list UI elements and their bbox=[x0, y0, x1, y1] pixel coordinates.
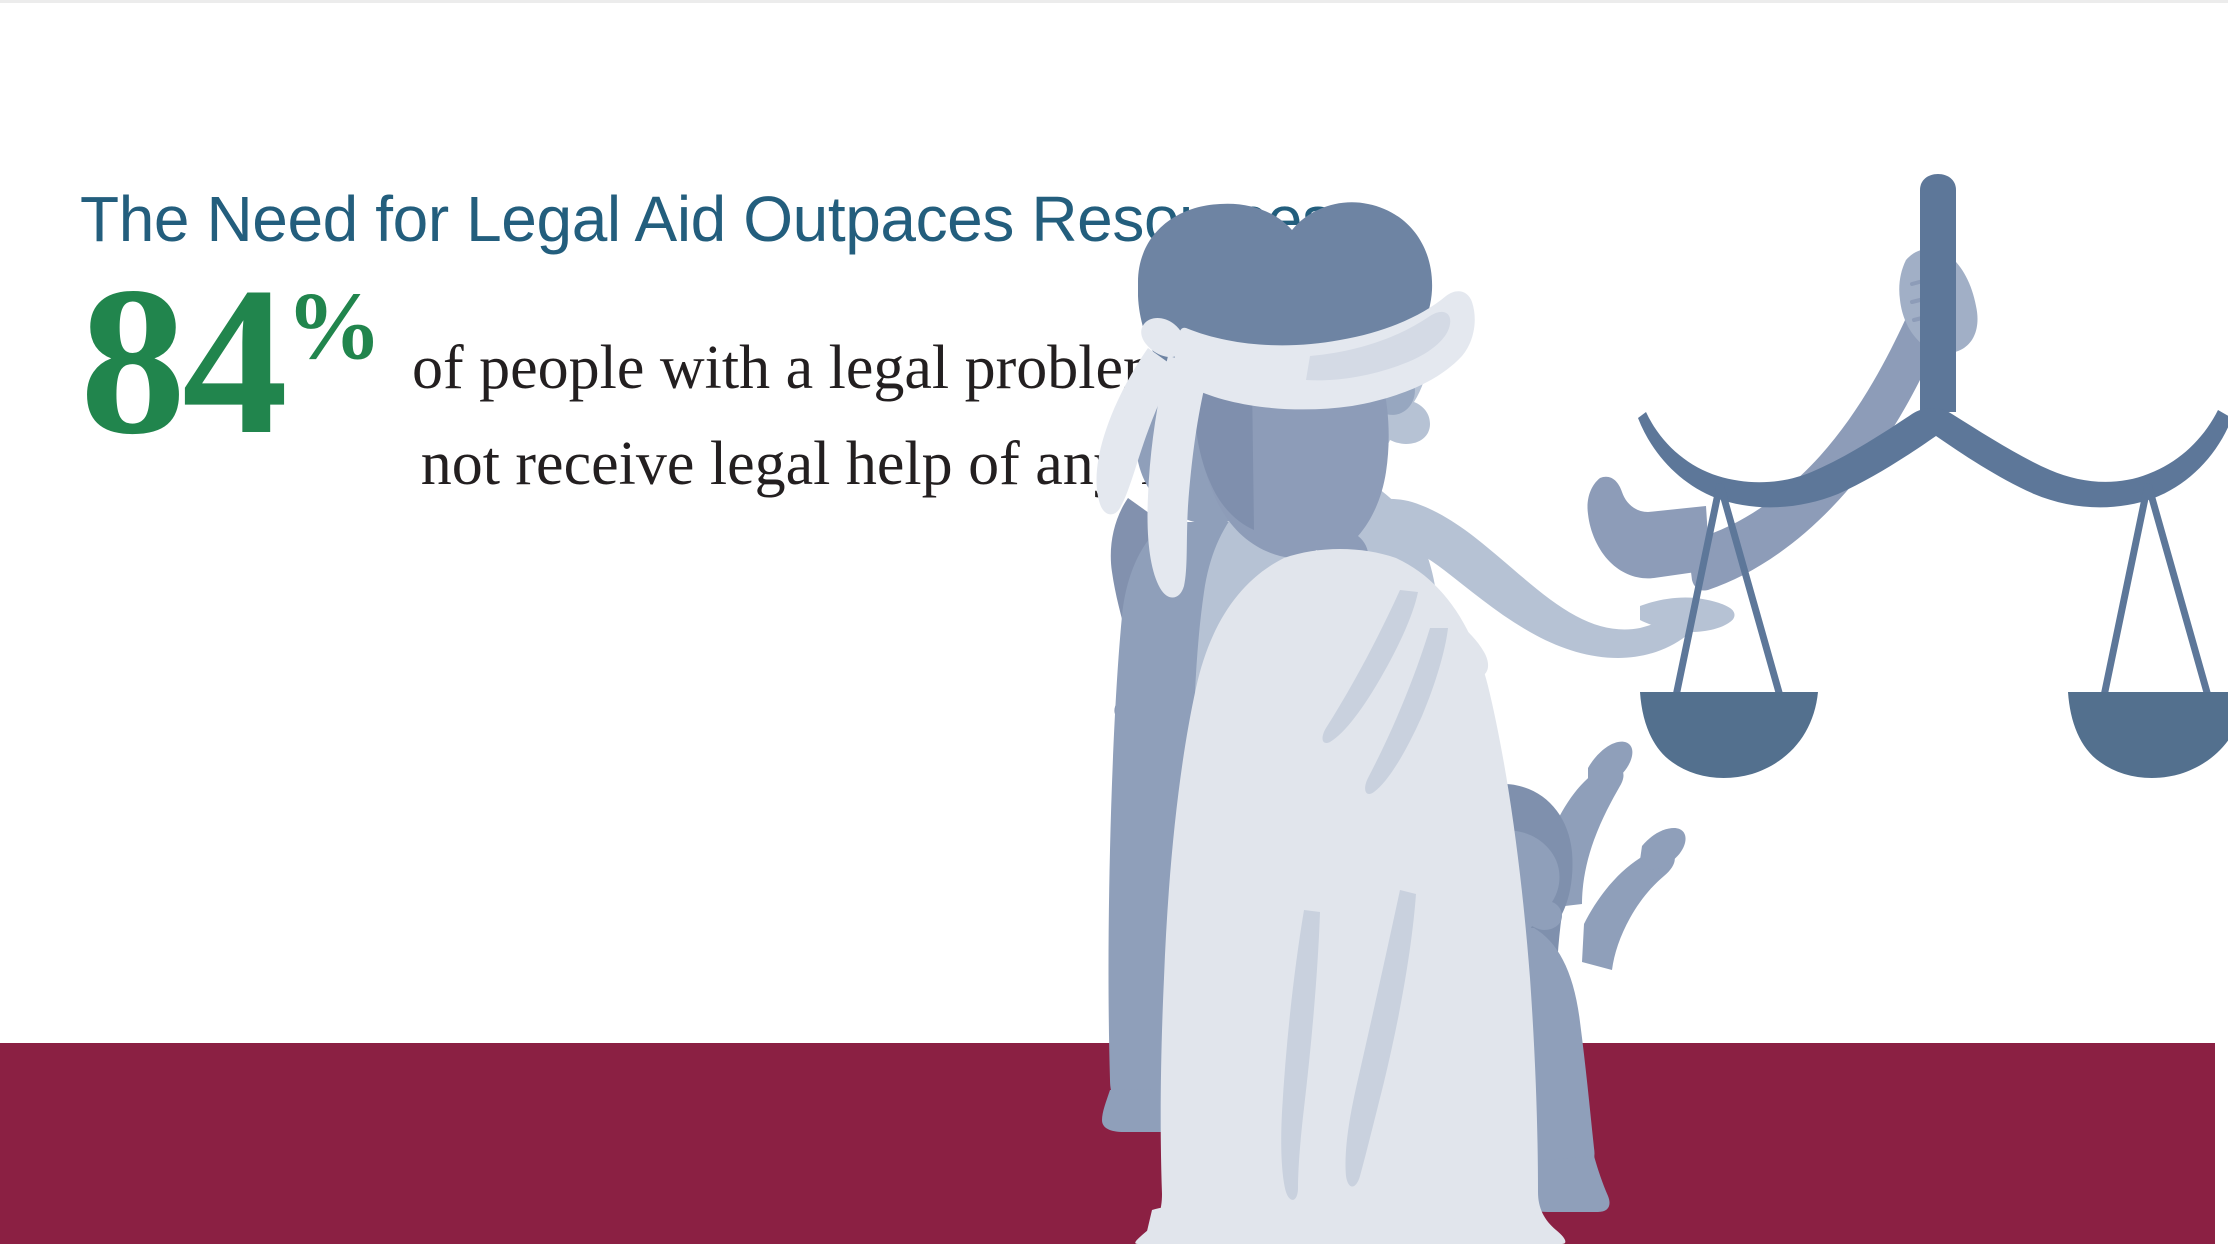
infographic-slide: The Need for Legal Aid Outpaces Resource… bbox=[0, 0, 2228, 1244]
lady-justice-with-family-illustration bbox=[1100, 150, 2228, 1244]
scales-left-pan bbox=[1640, 692, 1818, 778]
lady-justice-figure bbox=[1097, 174, 2228, 1244]
child-right-hand bbox=[1640, 828, 1686, 870]
scales-post bbox=[1920, 174, 1956, 412]
statistic-percent-symbol: % bbox=[286, 278, 382, 374]
scales-right-chains bbox=[2104, 484, 2208, 696]
statistic-figure: 84 % bbox=[80, 268, 382, 454]
scales-right-pan bbox=[2068, 692, 2228, 778]
child-left-hand bbox=[1588, 742, 1632, 786]
scales-of-justice bbox=[1638, 174, 2228, 778]
statistic-number: 84 bbox=[80, 268, 284, 454]
top-hairline-divider bbox=[0, 0, 2228, 3]
scales-crossbeam bbox=[1638, 408, 2228, 507]
